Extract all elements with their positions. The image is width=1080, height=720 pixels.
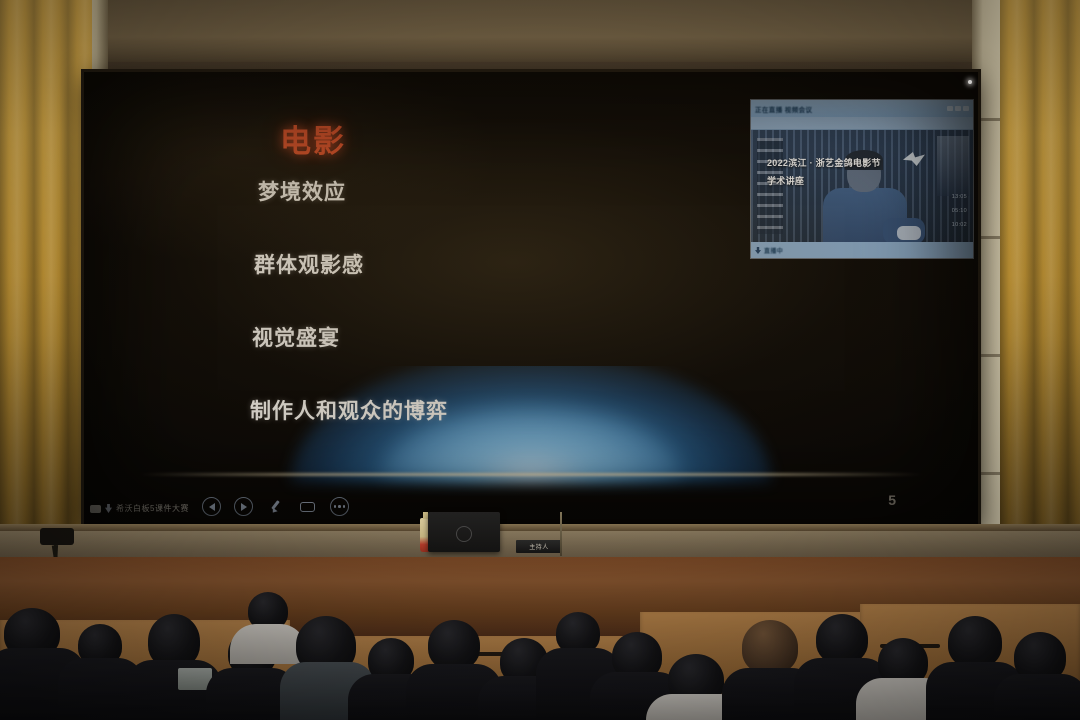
prev-slide-button[interactable] (202, 497, 221, 516)
speaker-hand (897, 226, 921, 240)
nameplate-label: 主持人 (529, 542, 549, 551)
slide-watermark: 希沃白板5课件大赛 (90, 503, 189, 514)
desk-nameplate: 主持人 (516, 540, 562, 553)
lecture-hall-photo: 电影 梦境效应 群体观影感 视觉盛宴 制作人和观众的博弈 5 希沃白板5课件大赛 (0, 0, 1080, 720)
video-conference-overlay[interactable]: 正在直播 视频会议 (751, 100, 973, 258)
more-options-icon[interactable] (330, 497, 349, 516)
audience-head (742, 620, 798, 674)
next-slide-button[interactable] (234, 497, 253, 516)
maximize-icon[interactable] (955, 106, 961, 111)
slide-bullet-2: 群体观影感 (254, 249, 778, 279)
slide-bullet-list: 梦境效应 群体观影感 视觉盛宴 制作人和观众的博弈 (258, 176, 778, 468)
microphone-stand (560, 512, 562, 556)
brand-mark-icon (90, 505, 101, 513)
video-toolbar-strip (751, 117, 973, 130)
video-stream-area: 2022滨江 · 浙艺金鸽电影节 学术讲座 13:05 05:10 10:02 (751, 130, 973, 242)
video-header-title: 正在直播 视频会议 (755, 104, 812, 114)
pen-tool-icon[interactable] (266, 497, 285, 516)
video-caption-line-1: 2022滨江 · 浙艺金鸽电影节 (767, 156, 881, 169)
camera-tripod-head (40, 528, 74, 545)
minimize-icon[interactable] (947, 106, 953, 111)
video-footer-label: 直播中 (764, 246, 783, 255)
video-footer-watermark: 直播中 (755, 246, 783, 255)
stage-curtain-right (1000, 0, 1080, 610)
slide-bullet-1: 梦境效应 (258, 176, 778, 206)
status-led-indicator (968, 80, 972, 84)
video-window-controls[interactable] (947, 106, 969, 111)
slide-bullet-3: 视觉盛宴 (252, 322, 778, 352)
download-arrow-icon (105, 504, 112, 513)
stage-curtain-left (0, 0, 92, 610)
live-badge-icon (755, 247, 761, 254)
audience-body (994, 674, 1080, 720)
presentation-slide: 电影 梦境效应 群体观影感 视觉盛宴 制作人和观众的博弈 5 希沃白板5课件大赛 (84, 72, 978, 524)
audience-head (948, 616, 1002, 668)
audience-head (816, 614, 868, 664)
audience-seating (0, 586, 1080, 720)
video-timestamp-3: 10:02 (952, 222, 967, 228)
stage-ledge (0, 524, 1080, 531)
whiteboard-icon[interactable] (298, 497, 317, 516)
video-timestamp-2: 05:10 (952, 208, 967, 214)
video-timestamp-1: 13:05 (952, 194, 967, 200)
audience-body (230, 624, 306, 664)
close-icon[interactable] (963, 106, 969, 111)
wall-upper-band (0, 0, 1080, 62)
poster-right (937, 136, 969, 196)
presenter-toolbar[interactable] (202, 497, 349, 516)
projector-control-box (428, 512, 500, 552)
projection-screen: 电影 梦境效应 群体观影感 视觉盛宴 制作人和观众的博弈 5 希沃白板5课件大赛 (84, 72, 978, 524)
slide-title: 电影 (280, 116, 346, 161)
video-header-bar: 正在直播 视频会议 (751, 100, 973, 117)
slide-number: 5 (888, 492, 896, 508)
slide-watermark-label: 希沃白板5课件大赛 (116, 503, 189, 514)
audience-head (428, 620, 480, 670)
slide-bullet-4: 制作人和观众的博弈 (250, 395, 778, 425)
video-footer-bar: 直播中 (751, 242, 973, 258)
video-caption-line-2: 学术讲座 (767, 174, 804, 187)
